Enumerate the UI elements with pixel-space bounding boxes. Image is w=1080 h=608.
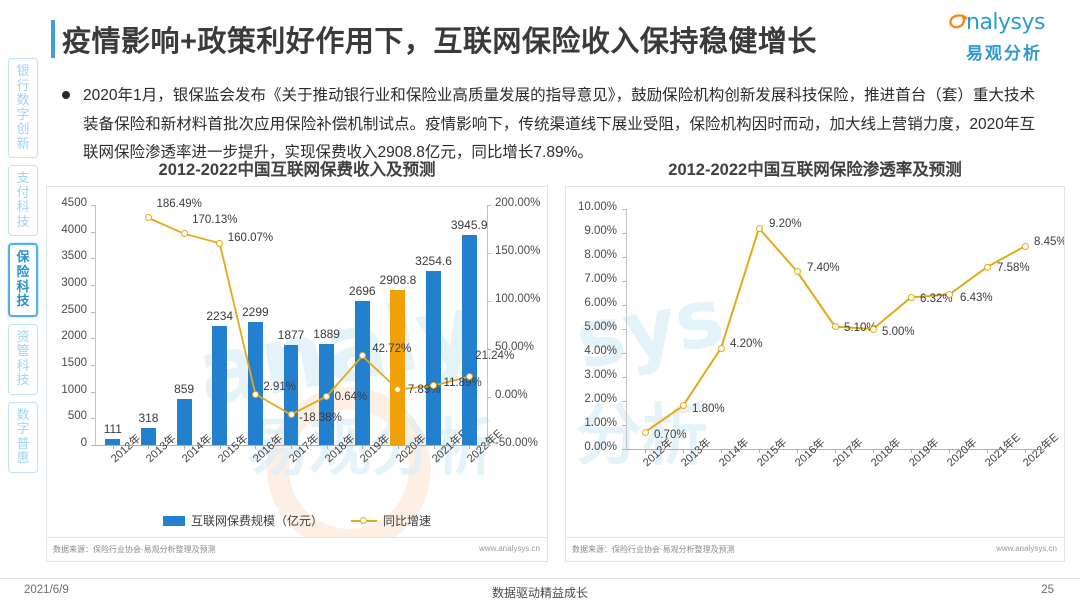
- sidebar-item-asset-management-tech[interactable]: 资管科技: [8, 324, 38, 395]
- line-value-label: 0.64%: [335, 391, 368, 403]
- sidebar-item-label: 技: [9, 215, 37, 230]
- sidebar-item-label: 科: [9, 359, 37, 374]
- sidebar-item-label: 管: [9, 344, 37, 359]
- sidebar-item-label: 付: [9, 186, 37, 201]
- sidebar-item-label: 保: [10, 250, 36, 265]
- line-marker: [908, 294, 915, 301]
- footer-page-number: 25: [1041, 584, 1054, 596]
- chart-panel-penetration-rate: 2012-2022中国互联网保险渗透率及预测 sys 分析 0.00%1.00%…: [565, 160, 1065, 572]
- sidebar-item-label: 科: [9, 200, 37, 215]
- sidebar-item-label: 惠: [9, 451, 37, 466]
- sidebar-item-label: 科: [10, 280, 36, 295]
- sidebar-item-payment-tech[interactable]: 支付科技: [8, 165, 38, 236]
- line-marker: [946, 291, 953, 298]
- sidebar-item-label: 新: [9, 137, 37, 152]
- line-value-label: 2.91%: [263, 381, 296, 393]
- chart-title-penetration-rate: 2012-2022中国互联网保险渗透率及预测: [565, 160, 1065, 186]
- line-value-label: 160.07%: [228, 232, 273, 244]
- sidebar-item-label: 技: [10, 294, 36, 309]
- line-marker: [680, 402, 687, 409]
- bullet-paragraph: 2020年1月，银保监会发布《关于推动银行业和保险业高质量发展的指导意见》，鼓励…: [83, 82, 1035, 168]
- chart-panel-premium-income: 2012-2022中国互联网保费收入及预测 analy 易观分析 互联网保费规模…: [46, 160, 548, 572]
- chart-title-premium-income: 2012-2022中国互联网保费收入及预测: [46, 160, 548, 186]
- line-value-label: 4.20%: [730, 338, 763, 350]
- line-value-label: 6.43%: [960, 292, 993, 304]
- line-marker: [181, 230, 188, 237]
- line-value-label: 5.00%: [882, 326, 915, 338]
- footer-slogan: 数据驱动精益成长: [0, 584, 1080, 601]
- line-value-label: 11.89%: [444, 377, 482, 389]
- line-marker: [1022, 243, 1029, 250]
- sidebar-item-label: 银: [9, 64, 37, 79]
- line-marker: [756, 225, 763, 232]
- line-value-label: 9.20%: [769, 218, 802, 230]
- page-title: 疫情影响+政策利好作用下，互联网保险收入保持稳健增长: [62, 18, 817, 60]
- penetration-rate-line: [566, 187, 1064, 537]
- source-bar-right: 数据来源：保险行业协会·易观分析整理及预测 www.analysys.cn: [565, 538, 1065, 562]
- chart-canvas-penetration-rate: sys 分析 0.00%1.00%2.00%3.00%4.00%5.00%6.0…: [565, 186, 1065, 538]
- chart-canvas-premium-income: analy 易观分析 互联网保费规模（亿元） 同比增速 050010001500…: [46, 186, 548, 538]
- bullet-block: 2020年1月，银保监会发布《关于推动银行业和保险业高质量发展的指导意见》，鼓励…: [62, 82, 1052, 168]
- sidebar-item-label: 支: [9, 171, 37, 186]
- line-value-label: 8.45%: [1034, 236, 1065, 248]
- growth-rate-line: [47, 187, 547, 537]
- sidebar-item-label: 行: [9, 79, 37, 94]
- line-marker: [323, 393, 330, 400]
- line-marker: [718, 345, 725, 352]
- sidebar-item-label: 技: [9, 373, 37, 388]
- logo-wordmark: nalysys: [966, 10, 1045, 35]
- line-value-label: 1.80%: [692, 403, 725, 415]
- source-text-right: 数据来源：保险行业协会·易观分析整理及预测: [572, 544, 735, 555]
- title-accent-bar: [51, 20, 55, 58]
- page-header: 疫情影响+政策利好作用下，互联网保险收入保持稳健增长 nalysys 易观分析: [0, 0, 1080, 70]
- line-marker: [288, 411, 295, 418]
- logo-chinese-name: 易观分析: [944, 39, 1064, 64]
- sidebar-item-label: 字: [9, 422, 37, 437]
- source-text-left: 数据来源：保险行业协会·易观分析整理及预测: [53, 544, 216, 555]
- sidebar-item-insurance-tech[interactable]: 保险科技: [8, 243, 38, 316]
- line-marker: [870, 326, 877, 333]
- sidebar-item-bank-digital-innovation[interactable]: 银行数字创新: [8, 58, 38, 158]
- line-value-label: 170.13%: [192, 214, 237, 226]
- line-value-label: 21.24%: [475, 350, 514, 362]
- sidebar-item-label: 数: [9, 93, 37, 108]
- source-url-left: www.analysys.cn: [479, 544, 540, 553]
- sidebar-item-label: 资: [9, 330, 37, 345]
- bullet-dot-icon: [62, 91, 70, 99]
- sidebar-item-label: 字: [9, 108, 37, 123]
- sidebar-item-label: 创: [9, 122, 37, 137]
- line-value-label: 7.58%: [997, 262, 1030, 274]
- footer-divider: [0, 578, 1080, 579]
- line-marker: [216, 240, 223, 247]
- source-bar-left: 数据来源：保险行业协会·易观分析整理及预测 www.analysys.cn: [46, 538, 548, 562]
- line-value-label: 7.40%: [807, 262, 840, 274]
- line-marker: [984, 264, 991, 271]
- line-marker: [252, 391, 259, 398]
- analysys-logo: nalysys 易观分析: [944, 10, 1064, 62]
- source-url-right: www.analysys.cn: [996, 544, 1057, 553]
- page-footer: 2021/6/9 数据驱动精益成长 25: [0, 582, 1080, 606]
- sidebar-item-label: 数: [9, 408, 37, 423]
- line-marker: [794, 268, 801, 275]
- sidebar-item-label: 险: [10, 265, 36, 280]
- sidebar-item-label: 普: [9, 437, 37, 452]
- line-marker: [466, 373, 473, 380]
- sidebar-item-digital-inclusive-finance[interactable]: 数字普惠: [8, 402, 38, 473]
- line-value-label: 186.49%: [156, 198, 201, 210]
- sidebar-nav: 银行数字创新支付科技保险科技资管科技数字普惠: [8, 58, 42, 480]
- line-value-label: -18.38%: [299, 412, 342, 424]
- line-marker: [642, 429, 649, 436]
- line-value-label: 42.72%: [372, 343, 411, 355]
- line-marker: [832, 323, 839, 330]
